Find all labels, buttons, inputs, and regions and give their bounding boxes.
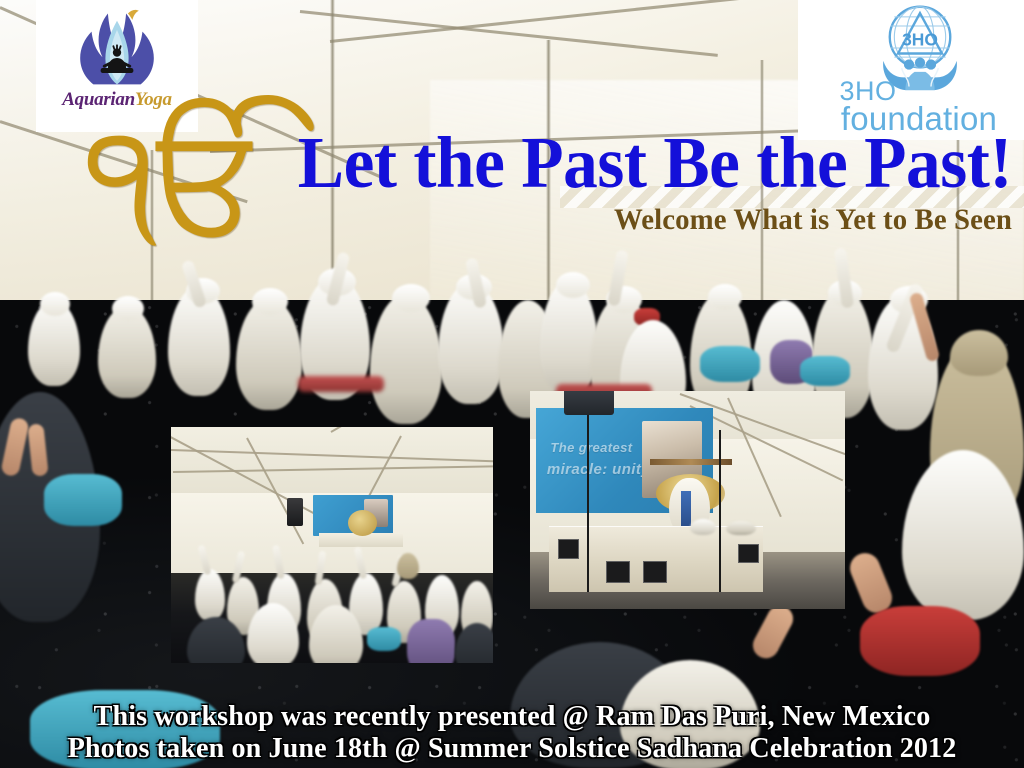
svg-text:3HO: 3HO: [902, 29, 938, 49]
head-covering: [112, 296, 144, 321]
head-covering: [252, 288, 288, 315]
inset-teacher-scarf: [681, 491, 691, 526]
inset-banner-text-line2: miracle: unity: [547, 461, 650, 478]
inset-platform-vent: [643, 561, 667, 583]
head-covering: [556, 272, 590, 298]
inset-participant-shawl: [407, 619, 455, 663]
prop-bag-teal: [700, 346, 760, 382]
head-covering: [950, 330, 1008, 376]
head-covering: [40, 292, 70, 316]
inset-photo-teacher-on-stage: The greatest miracle: unity: [530, 391, 845, 609]
inset-mic-stand: [587, 391, 589, 592]
ek-onkar-symbol: ੴ: [86, 104, 236, 254]
caption-line-1: This workshop was recently presented @ R…: [15, 701, 1008, 732]
inset-speaker-box: [564, 391, 614, 415]
inset-mic-stand: [719, 430, 721, 591]
inset-photo-class-wide-shot: [171, 427, 493, 663]
page-title: Let the Past Be the Past!: [252, 126, 1012, 199]
prop-bag-teal: [800, 356, 850, 386]
footer-caption: This workshop was recently presented @ R…: [0, 701, 1024, 764]
foreground-red-cloth: [860, 606, 980, 676]
prop-bag-teal: [44, 474, 122, 526]
inset-platform-vent: [738, 544, 759, 563]
inset-loudspeaker: [287, 498, 303, 526]
inset-props: [726, 521, 756, 535]
page-subtitle: Welcome What is Yet to Be Seen: [244, 205, 1012, 235]
3ho-foundation-logo[interactable]: 3HO 3HO foundation: [798, 0, 1024, 140]
inset-gong: [348, 510, 377, 536]
inset-platform-vent: [558, 539, 579, 558]
caption-line-2: Photos taken on June 18th @ Summer Solst…: [15, 733, 1008, 764]
poster-canvas: The greatest miracle: unity: [0, 0, 1024, 768]
inset-participant: [397, 553, 419, 579]
head-covering: [392, 284, 430, 312]
lotus-flame-meditator-icon: [71, 8, 163, 88]
head-covering: [708, 284, 742, 310]
inset-banner-text-line1: The greatest: [550, 440, 632, 455]
yoga-mat: [298, 376, 384, 392]
inset-prop-bag: [367, 627, 401, 651]
inset-props: [690, 519, 716, 535]
inset-platform-vent: [606, 561, 630, 583]
